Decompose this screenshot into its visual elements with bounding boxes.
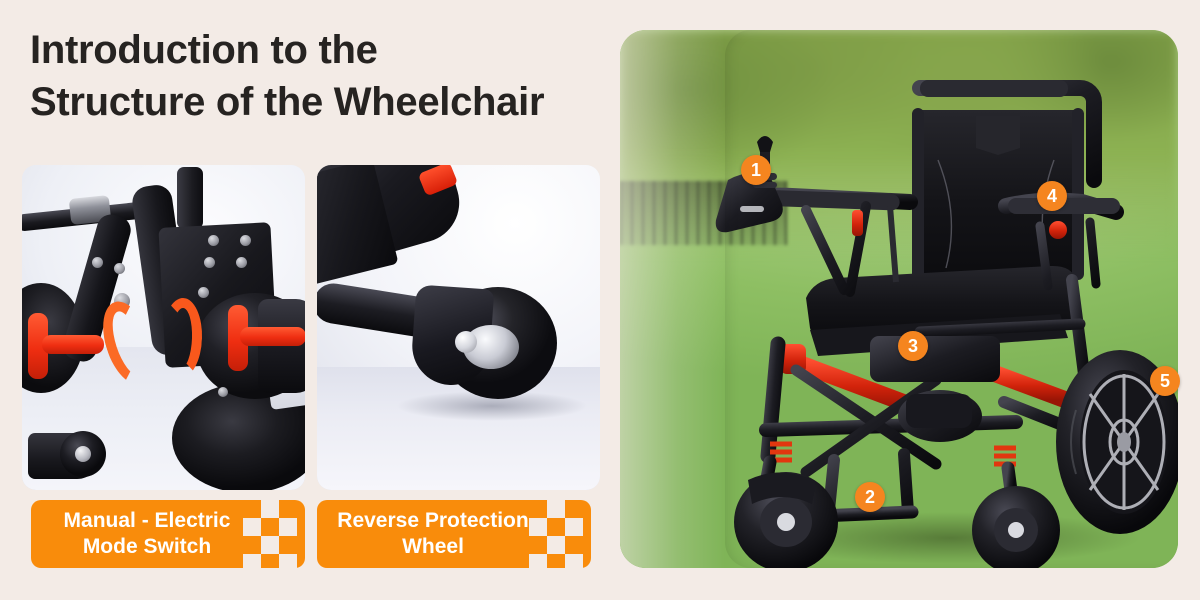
hero-wheelchair-photo[interactable]: [620, 30, 1178, 568]
detail-card-manual-electric-mode-switch[interactable]: [22, 165, 305, 490]
page-title: Introduction to the Structure of the Whe…: [30, 24, 630, 128]
caption-reverse-protection-wheel: Reverse Protection Wheel: [317, 500, 591, 568]
page-root: Introduction to the Structure of the Whe…: [0, 0, 1200, 600]
page-title-line-1: Introduction to the: [30, 24, 630, 76]
hero-badge-3-number: 3: [908, 336, 918, 357]
mode-lever-left-stem: [42, 335, 104, 354]
detail-card-reverse-protection-wheel[interactable]: [317, 165, 600, 490]
caption-2-line-2: Wheel: [337, 534, 528, 560]
caption-1-line-1: Manual - Electric: [64, 508, 231, 534]
photo-inner-panel: [725, 30, 1178, 568]
checker-pattern-icon: [533, 500, 587, 568]
photo-left-fade-band: [620, 30, 725, 568]
hero-badge-4-number: 4: [1047, 186, 1057, 207]
caption-manual-electric-mode-switch: Manual - Electric Mode Switch: [31, 500, 305, 568]
hero-badge-2-number: 2: [865, 487, 875, 508]
hero-badge-5[interactable]: 5: [1150, 366, 1180, 396]
caption-2-line-1: Reverse Protection: [337, 508, 528, 534]
hero-badge-3[interactable]: 3: [898, 331, 928, 361]
checker-pattern-icon: [247, 500, 301, 568]
mode-lever-right-stem: [240, 327, 305, 346]
caption-1-line-2: Mode Switch: [64, 534, 231, 560]
hero-badge-1-number: 1: [751, 160, 761, 181]
reverse-protection-wheel-photo: [317, 165, 600, 490]
hero-badge-5-number: 5: [1160, 371, 1170, 392]
page-title-line-2: Structure of the Wheelchair: [30, 76, 630, 128]
hero-badge-4[interactable]: 4: [1037, 181, 1067, 211]
mode-switch-photo: [22, 165, 305, 490]
hero-badge-2[interactable]: 2: [855, 482, 885, 512]
hero-badge-1[interactable]: 1: [741, 155, 771, 185]
